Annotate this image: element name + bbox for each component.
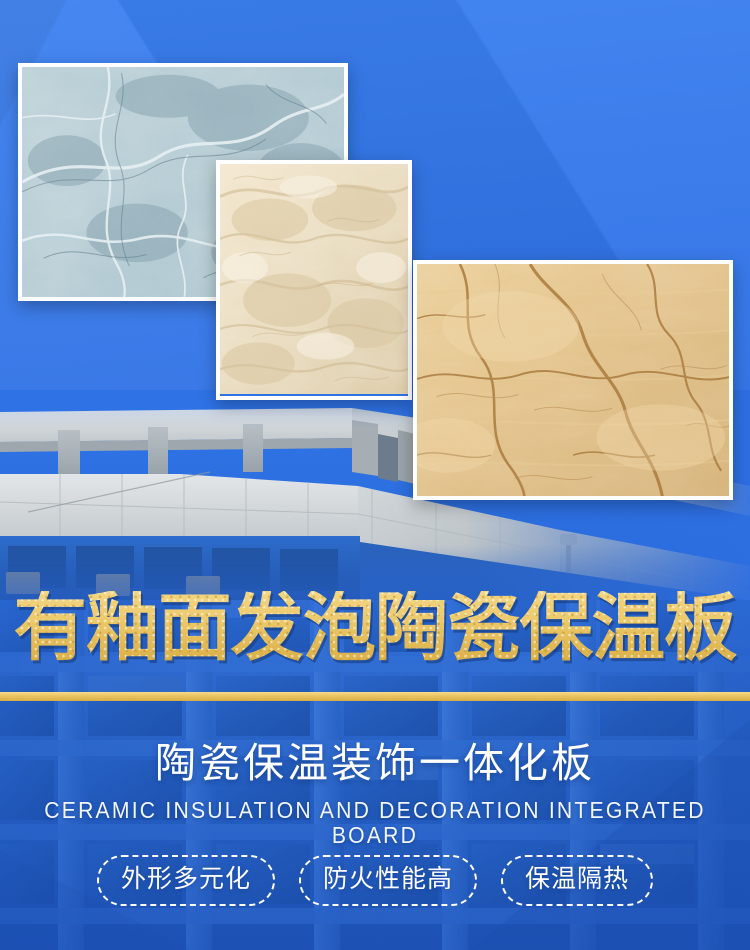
subtitle-english: CERAMIC INSULATION AND DECORATION INTEGR…	[30, 798, 720, 849]
subtitle-chinese: 陶瓷保温装饰一体化板	[0, 741, 750, 786]
main-title-container: 有釉面发泡陶瓷保温板	[0, 578, 750, 678]
feature-tag-list: 外形多元化 防火性能高 保温隔热	[0, 855, 750, 906]
tile-sample-3	[413, 260, 733, 500]
product-banner: 有釉面发泡陶瓷保温板 陶瓷保温装饰一体化板 CERAMIC INSULATION…	[0, 0, 750, 950]
golden-marble-texture	[417, 264, 729, 498]
feature-tag-1[interactable]: 外形多元化	[97, 855, 275, 906]
cream-travertine-texture	[220, 164, 408, 394]
feature-tag-2[interactable]: 防火性能高	[299, 855, 477, 906]
gold-divider	[0, 692, 750, 701]
feature-tag-3[interactable]: 保温隔热	[501, 855, 653, 906]
tile-sample-2	[216, 160, 412, 400]
page-title: 有釉面发泡陶瓷保温板	[14, 591, 737, 665]
